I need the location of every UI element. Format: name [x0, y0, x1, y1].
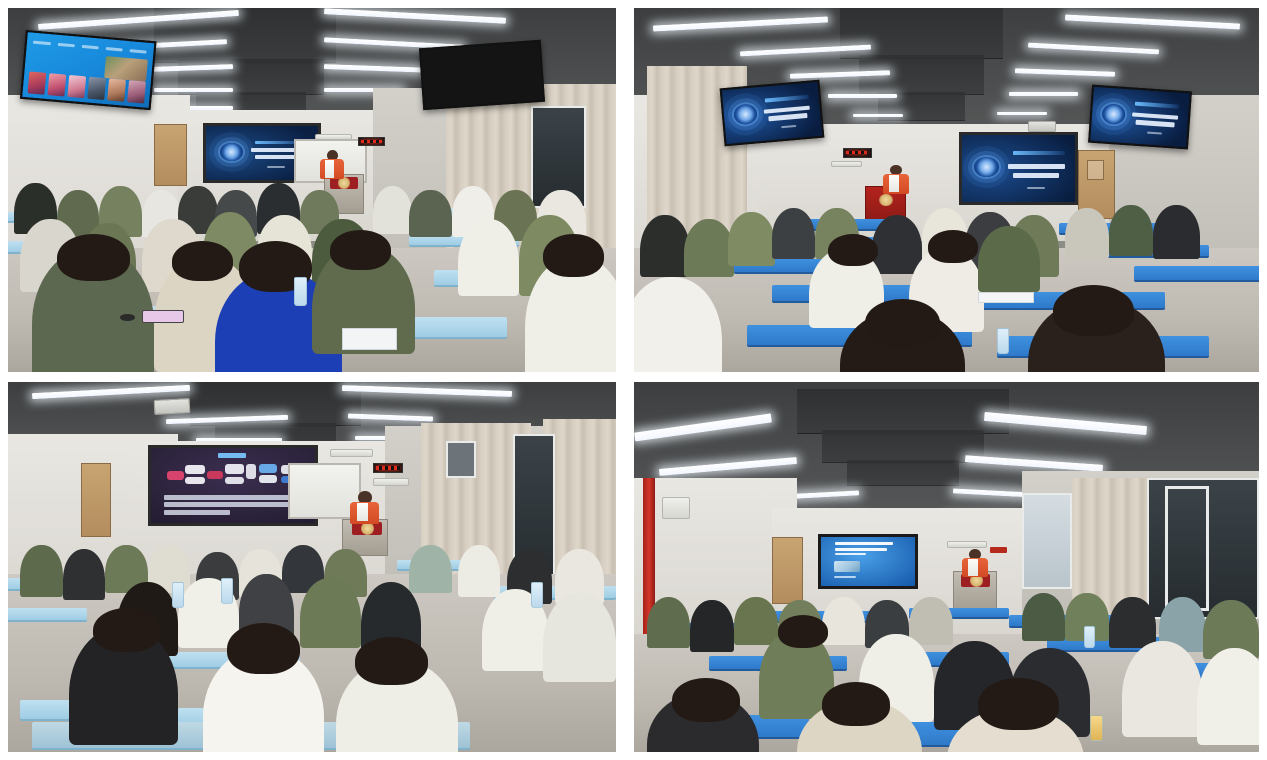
student-desk — [1134, 266, 1259, 279]
student — [690, 600, 734, 652]
tv-nav-item[interactable] — [106, 47, 124, 52]
student — [1022, 593, 1066, 641]
classroom-door — [81, 463, 111, 537]
ceiling-light — [154, 88, 233, 92]
mindmap-node — [167, 471, 183, 479]
tv-thumbnail[interactable] — [28, 71, 46, 94]
student-head — [822, 682, 891, 726]
student — [772, 208, 816, 259]
student-head — [865, 299, 940, 346]
student-head — [978, 678, 1059, 730]
mindmap-node — [259, 464, 277, 472]
tv-thumbnail[interactable] — [48, 73, 66, 96]
tv-home-screen — [22, 32, 154, 108]
tv-hero-thumbnail[interactable] — [104, 56, 148, 82]
ceiling-light — [1009, 92, 1078, 96]
water-bottle — [1084, 626, 1095, 648]
speaker-vest — [357, 503, 368, 522]
student — [543, 593, 616, 682]
student — [1153, 205, 1200, 260]
student-head — [1053, 285, 1134, 336]
student — [409, 545, 452, 593]
tv-thumbnail[interactable] — [88, 77, 106, 100]
slide-emblem-icon — [220, 143, 243, 161]
student-head — [828, 234, 878, 267]
student — [872, 215, 922, 273]
wall-tv-off — [419, 40, 545, 110]
student — [728, 212, 775, 267]
photo-bottom-left: Dim classroom, projection screen shows a… — [8, 382, 616, 752]
slide-title — [218, 453, 246, 458]
exit-sign — [990, 547, 1006, 554]
collage-panel-top-right: Classroom with bright blue desks, twin s… — [626, 0, 1267, 376]
ceiling-projector — [1028, 121, 1056, 132]
led-clock-display — [843, 148, 871, 157]
student — [300, 578, 361, 648]
slide-paragraph-line — [164, 495, 302, 500]
student-head — [672, 678, 741, 722]
student — [734, 597, 778, 645]
student — [1109, 205, 1153, 256]
led-clock-display — [358, 137, 385, 146]
classroom-scene — [8, 382, 616, 752]
projection-screen — [959, 132, 1078, 205]
desk-puck — [120, 314, 135, 321]
collage-panel-bottom-left: Dim classroom, projection screen shows a… — [0, 376, 626, 760]
student-head — [330, 230, 391, 270]
drink-bottle — [1090, 715, 1103, 741]
suspended-tv-right — [1088, 85, 1192, 150]
tv-nav-item[interactable] — [82, 45, 100, 50]
classroom-door — [154, 124, 187, 186]
classroom-scene — [634, 382, 1259, 752]
student — [458, 219, 519, 295]
ceiling-light — [828, 94, 897, 98]
student-foreground — [1122, 641, 1203, 737]
tv-thumbnail[interactable] — [68, 75, 86, 98]
slide-illustration — [834, 561, 860, 572]
student — [373, 186, 413, 233]
classroom-scene — [8, 8, 616, 372]
student — [409, 190, 452, 237]
water-bottle — [531, 582, 543, 608]
student-head — [227, 623, 300, 675]
mindmap-node — [225, 464, 245, 474]
slide-caption-line — [834, 576, 857, 578]
speaker-vest — [968, 559, 978, 576]
student — [978, 226, 1041, 292]
handout-paper — [978, 292, 1034, 303]
photo-collage: Classroom Safety Lecture Photo Collage L… — [0, 0, 1267, 760]
student — [20, 545, 63, 597]
slide-paragraph-line — [164, 502, 302, 507]
handout-paper — [342, 328, 397, 350]
slide-heading-line — [835, 548, 888, 551]
door-window — [1087, 160, 1105, 180]
suspended-tv-left — [719, 80, 824, 147]
water-bottle — [172, 582, 184, 608]
ceiling-duct — [840, 8, 1003, 59]
tablet-device[interactable] — [142, 310, 185, 323]
water-bottle — [294, 277, 307, 306]
ac-vent — [315, 134, 351, 141]
student — [1109, 597, 1156, 649]
student — [909, 597, 953, 645]
window — [1022, 493, 1072, 589]
mindmap-node — [185, 465, 205, 474]
slide-text-line — [1027, 187, 1045, 189]
speaker-vest — [889, 175, 899, 192]
mindmap-node — [225, 477, 245, 484]
student — [684, 219, 734, 277]
ceiling-duct — [797, 389, 1010, 433]
ceiling-duct-lower — [822, 430, 985, 463]
student — [1065, 208, 1109, 259]
student-head — [93, 608, 160, 652]
wall-tv-video-home — [20, 30, 156, 110]
ac-vent — [947, 541, 988, 548]
speaker-box — [330, 449, 373, 457]
wall-speaker — [662, 497, 690, 519]
slide-text-line — [1013, 173, 1059, 178]
led-clock-display — [373, 463, 403, 473]
slide-paragraph-line — [164, 510, 230, 515]
student-head — [543, 234, 604, 278]
slide-text-line — [267, 166, 285, 168]
tv-nav-bar — [33, 38, 147, 56]
ceiling-duct-deep — [847, 460, 960, 486]
mindmap-node — [185, 477, 205, 485]
water-bottle — [997, 328, 1010, 353]
collage-panel-bottom-right: Wide classroom with red standpipe at lef… — [626, 376, 1267, 760]
speaker-vest — [325, 160, 334, 177]
slide-text-line — [1008, 164, 1064, 169]
classroom-scene — [634, 8, 1259, 372]
student-head — [57, 234, 130, 281]
ac-vent — [831, 161, 862, 168]
water-bottle — [221, 578, 233, 604]
classroom-door — [772, 537, 803, 604]
podium-seal-icon — [879, 194, 893, 206]
tv-thumbnail[interactable] — [107, 78, 125, 101]
ac-vent — [373, 478, 409, 485]
student-head — [928, 230, 978, 263]
collage-panel-top-left: Lecture hall with pale blue desks, wall-… — [0, 0, 626, 376]
tv-nav-item[interactable] — [33, 40, 51, 45]
mindmap-node — [259, 475, 277, 483]
mindmap-node — [207, 471, 223, 479]
window-transom — [446, 441, 476, 478]
tv-nav-item[interactable] — [130, 49, 148, 54]
ceiling-projector — [154, 398, 191, 415]
slide-accent-bar — [1013, 151, 1065, 155]
tv-nav-item[interactable] — [57, 42, 75, 47]
tv-thumbnail[interactable] — [127, 80, 145, 103]
window-pane — [1165, 486, 1209, 612]
photo-bottom-right: Wide classroom with red standpipe at lef… — [634, 382, 1259, 752]
student-desk — [8, 608, 87, 621]
mindmap-node — [246, 464, 256, 479]
ceiling-light — [853, 114, 903, 118]
student-head — [355, 637, 428, 685]
slide-heading-line — [835, 542, 893, 545]
student-head — [172, 241, 233, 281]
ceiling-light — [997, 112, 1047, 116]
photo-top-left: Lecture hall with pale blue desks, wall-… — [8, 8, 616, 372]
photo-top-right: Classroom with bright blue desks, twin s… — [634, 8, 1259, 372]
projection-screen — [818, 534, 918, 590]
student — [640, 215, 690, 277]
student-head — [778, 615, 828, 648]
